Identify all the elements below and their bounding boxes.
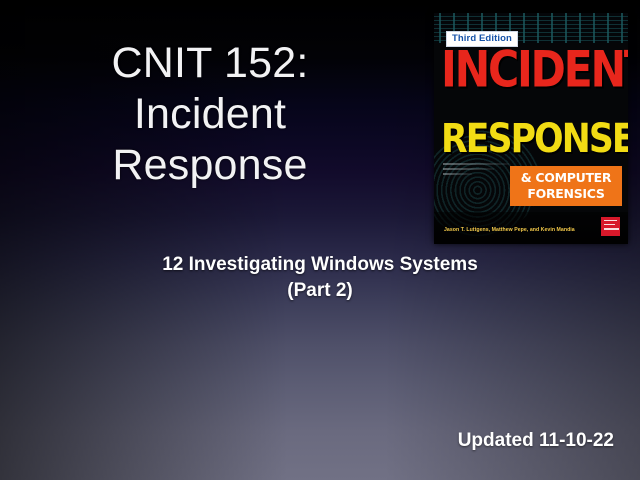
slide-subtitle: 12 Investigating Windows Systems (Part 2… [0,252,640,304]
title-line-3: Response [0,140,420,191]
fine-print-line [443,163,509,165]
logo-bar [604,220,617,222]
book-subtitle-line-2: FORENSICS [510,186,622,202]
logo-bar [604,224,615,226]
book-cover-fine-print [443,163,509,178]
book-title-word-incident: INCIDENT [441,44,628,95]
logo-bar [604,228,619,230]
book-authors: Jason T. Luttgens, Matthew Pepe, and Kev… [444,227,575,233]
fine-print-line [443,173,472,175]
page-title: CNIT 152: Incident Response [0,38,420,191]
book-title-word-response: RESPONSE [441,118,628,159]
book-subtitle-box: & COMPUTER FORENSICS [510,166,622,206]
book-subtitle-line-1: & COMPUTER [510,170,622,186]
publisher-logo-icon [601,217,620,236]
title-line-2: Incident [0,89,420,140]
updated-date-label: Updated 11-10-22 [458,430,614,452]
title-line-1: CNIT 152: [0,38,420,89]
presentation-title-slide: CNIT 152: Incident Response Third Editio… [0,0,640,480]
subtitle-line-1: 12 Investigating Windows Systems [0,252,640,278]
book-cover-image: Third Edition INCIDENT RESPONSE & COMPUT… [434,13,628,244]
subtitle-line-2: (Part 2) [0,278,640,304]
fine-print-line [443,168,494,170]
